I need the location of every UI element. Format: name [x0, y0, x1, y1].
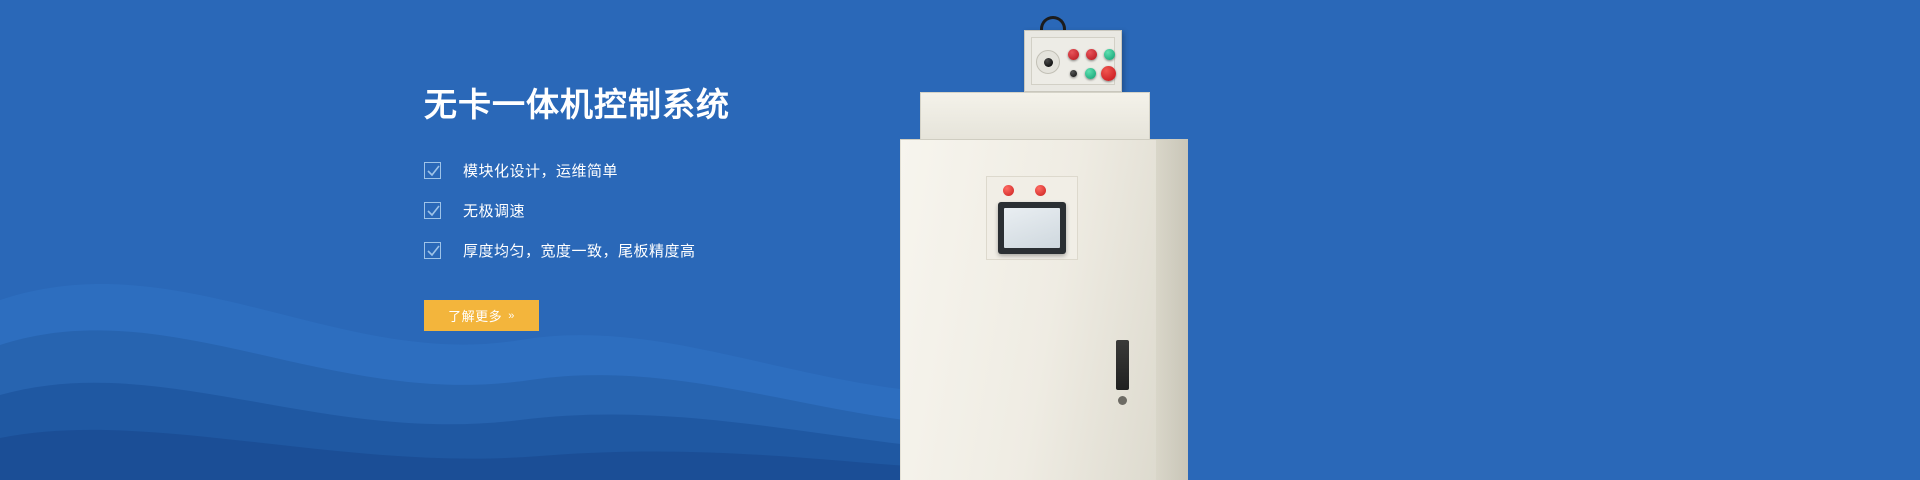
- hmi-screen-surface[interactable]: [1004, 208, 1060, 248]
- list-item: 模块化设计，运维简单: [424, 160, 944, 180]
- feature-text: 厚度均匀，宽度一致，尾板精度高: [463, 240, 696, 261]
- panel-faceplate: [1031, 37, 1115, 85]
- cabinet-seam: [900, 139, 1168, 140]
- list-item: 无极调速: [424, 200, 944, 220]
- feature-list: 模块化设计，运维简单 无极调速 厚度均匀，宽度一致，尾板精度高: [424, 160, 944, 260]
- feature-text: 无极调速: [463, 200, 525, 221]
- cabinet-top-cap: [920, 92, 1150, 140]
- control-cabinet-photo: [898, 0, 1188, 480]
- operator-control-panel: [1024, 30, 1122, 92]
- hmi-touch-screen[interactable]: [998, 202, 1066, 254]
- push-button-green-1[interactable]: [1104, 49, 1115, 60]
- push-button-red-2[interactable]: [1086, 49, 1097, 60]
- cabinet-side-panel: [1156, 139, 1188, 480]
- indicator-lamp-red-2: [1035, 185, 1046, 196]
- feature-text: 模块化设计，运维简单: [463, 160, 618, 181]
- push-button-green-2[interactable]: [1085, 68, 1096, 79]
- indicator-lamp-red-1: [1003, 185, 1014, 196]
- page-title: 无卡一体机控制系统: [424, 84, 944, 125]
- cabinet-door-handle[interactable]: [1116, 340, 1129, 390]
- learn-more-button[interactable]: 了解更多 »: [424, 300, 539, 331]
- check-square-icon: [424, 202, 441, 219]
- chevron-right-icon: »: [508, 310, 515, 322]
- banner-content: 无卡一体机控制系统 模块化设计，运维简单 无极调速: [424, 84, 944, 331]
- push-button-red-1[interactable]: [1068, 49, 1079, 60]
- selector-knob: [1044, 58, 1053, 67]
- cabinet-door-lock[interactable]: [1118, 396, 1127, 405]
- emergency-stop-button[interactable]: [1101, 66, 1116, 81]
- list-item: 厚度均匀，宽度一致，尾板精度高: [424, 240, 944, 260]
- check-square-icon: [424, 242, 441, 259]
- learn-more-label: 了解更多: [448, 306, 502, 325]
- rotary-selector-switch[interactable]: [1036, 50, 1060, 74]
- push-button-black-small[interactable]: [1070, 70, 1077, 77]
- hero-banner: 无卡一体机控制系统 模块化设计，运维简单 无极调速: [0, 0, 1920, 480]
- check-square-icon: [424, 162, 441, 179]
